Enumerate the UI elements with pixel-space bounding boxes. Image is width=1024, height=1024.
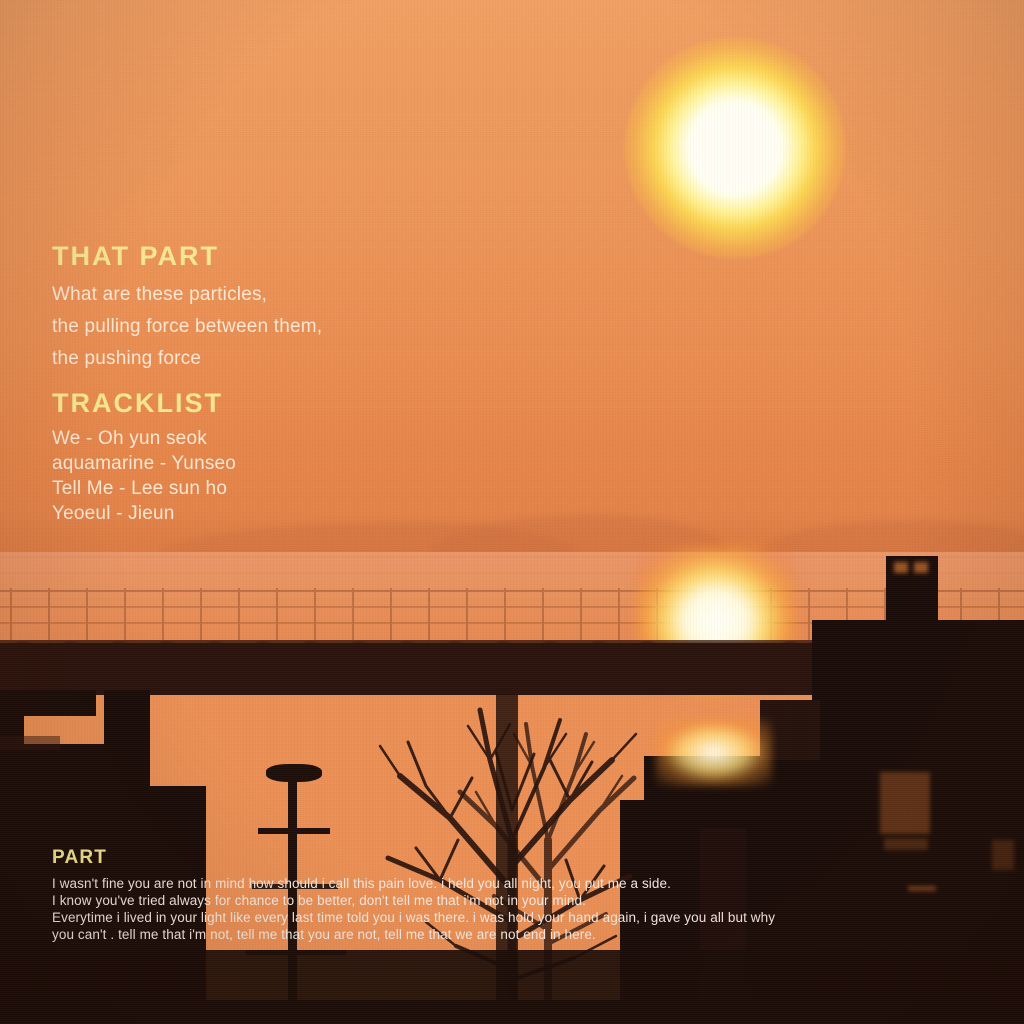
setting-sun-icon <box>693 106 777 190</box>
tracklist-heading: TRACKLIST <box>52 390 572 417</box>
that-part-heading: THAT PART <box>52 243 572 270</box>
tracklist-item: We - Oh yun seok <box>52 426 572 451</box>
building-left-edge-light <box>0 736 60 750</box>
foreground-bottom-edge <box>0 1000 1024 1024</box>
tracklist-item: Yeoeul - Jieun <box>52 501 572 526</box>
part-lyric-line: I know you've tried always for chance to… <box>52 892 982 909</box>
that-part-block: THAT PART What are these particles, the … <box>52 243 572 375</box>
building-left-ledge <box>0 690 96 716</box>
utility-pole-head <box>266 764 322 782</box>
that-part-line: What are these particles, <box>52 279 572 311</box>
tower-window-glint <box>914 562 928 573</box>
tracklist-block: TRACKLIST We - Oh yun seok aquamarine - … <box>52 390 572 526</box>
part-lyric-line: Everytime i lived in your light like eve… <box>52 909 982 926</box>
part-heading: PART <box>52 848 982 867</box>
window-glint <box>880 772 930 834</box>
that-part-line: the pushing force <box>52 343 572 375</box>
part-lyric-line: you can't . tell me that i'm not, tell m… <box>52 926 982 943</box>
water-streak <box>0 572 1024 574</box>
window-glint <box>992 840 1014 870</box>
poster-canvas: THAT PART What are these particles, the … <box>0 0 1024 1024</box>
water-streak <box>0 556 1024 558</box>
part-lyric-line: I wasn't fine you are not in mind how sh… <box>52 875 982 892</box>
tracklist-item: aquamarine - Yunseo <box>52 451 572 476</box>
tower-window-glint <box>894 562 908 573</box>
tracklist-item: Tell Me - Lee sun ho <box>52 476 572 501</box>
that-part-line: the pulling force between them, <box>52 311 572 343</box>
part-lyrics-block: PART I wasn't fine you are not in mind h… <box>52 848 982 943</box>
utility-pole-crossarm <box>258 828 330 834</box>
